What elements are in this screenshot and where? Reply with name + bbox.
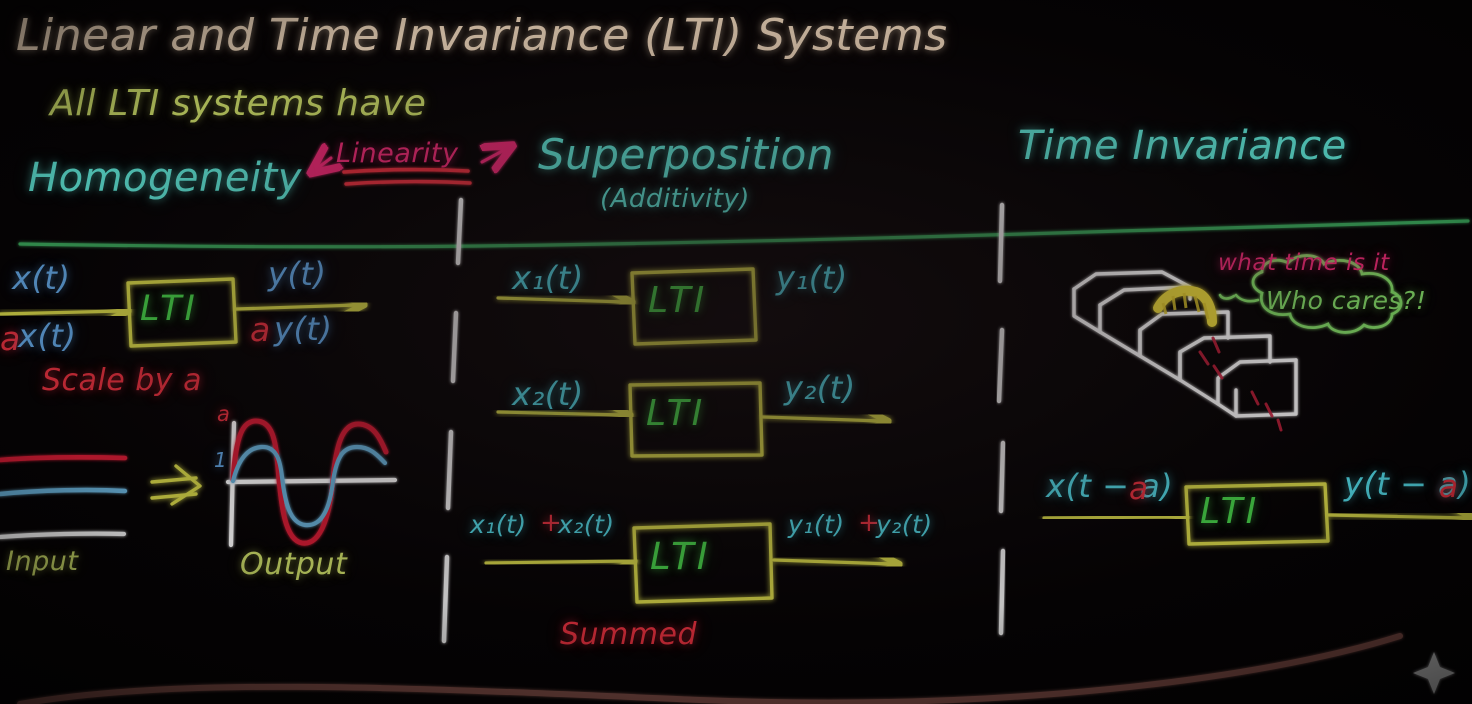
heading-additivity: (Additivity)	[600, 186, 750, 212]
column-divider-right	[999, 205, 1003, 633]
page-title: Linear and Time Invariance (LTI) Systems	[16, 14, 948, 58]
time-invariance-output-coef: a	[1439, 472, 1459, 503]
homogeneity-input-arrow	[0, 311, 122, 314]
heading-time-invariance: Time Invariance	[1018, 126, 1347, 166]
superposition-sum-output-right: y₂(t)	[876, 512, 933, 537]
homogeneity-output-arrow	[236, 305, 358, 309]
output-graph-axes	[228, 423, 395, 545]
doodle-question-label: what time is it	[1218, 252, 1390, 275]
output-amplitude-label: a	[217, 404, 230, 425]
input-graph-traces	[0, 457, 125, 537]
bottom-arc	[20, 636, 1400, 704]
output-graph-traces	[233, 421, 386, 543]
homogeneity-input-top-label: x(t)	[12, 262, 70, 294]
superposition-lti-label-sum: LTI	[650, 538, 711, 575]
scale-by-a-note: Scale by a	[42, 366, 202, 396]
heading-superposition: Superposition	[538, 134, 834, 176]
slinky-coil-lines	[1163, 293, 1208, 319]
superposition-input-label-2: x₂(t)	[512, 378, 584, 410]
doodle-answer-label: Who cares?!	[1266, 288, 1426, 313]
heading-homogeneity: Homogeneity	[28, 158, 302, 198]
slinky-icon	[1158, 291, 1212, 322]
superposition-output-label-1: y₁(t)	[776, 262, 848, 294]
homogeneity-output-bottom-label: y(t)	[274, 313, 332, 345]
superposition-output-arrow-2	[763, 417, 882, 421]
superposition-sum-input-left: x₁(t)	[470, 512, 527, 537]
implies-double-arrow-icon	[152, 466, 200, 504]
time-invariance-input-coef: a	[1129, 474, 1149, 505]
sparkle-icon	[1413, 652, 1455, 694]
time-invariance-lti-label: LTI	[1200, 494, 1259, 530]
homogeneity-output-coef-label: a	[250, 313, 271, 346]
superposition-input-arrow-sum	[486, 561, 628, 563]
motion-ticks	[1200, 338, 1281, 430]
blackboard-canvas: Linear and Time Invariance (LTI) Systems…	[0, 0, 1472, 704]
linearity-underline	[344, 170, 470, 184]
superposition-lti-label-1: LTI	[648, 283, 707, 319]
green-horizontal-rule	[20, 221, 1468, 247]
time-invariance-output-arrow	[1329, 515, 1468, 518]
time-invariance-input-label: x(t − a)	[1046, 470, 1173, 502]
input-graph-caption: Input	[6, 548, 78, 575]
heading-linearity: Linearity	[336, 140, 458, 167]
output-graph-caption: Output	[240, 550, 347, 580]
superposition-output-label-2: y₂(t)	[784, 372, 856, 404]
subtitle: All LTI systems have	[50, 86, 426, 122]
stairs-doodle	[1074, 272, 1296, 416]
summed-note: Summed	[560, 620, 697, 650]
homogeneity-output-top-label: y(t)	[268, 258, 326, 290]
input-amplitude-label: 1	[214, 450, 227, 470]
homogeneity-lti-label: LTI	[140, 292, 198, 327]
column-divider-left	[444, 200, 461, 641]
speech-bubble-tail	[1220, 295, 1258, 301]
superposition-lti-label-2: LTI	[646, 396, 705, 432]
superposition-sum-input-right: x₂(t)	[558, 512, 615, 537]
superposition-input-label-1: x₁(t)	[512, 262, 584, 294]
superposition-input-arrow-1	[498, 298, 626, 302]
superposition-output-arrow-sum	[774, 560, 893, 564]
homogeneity-input-bottom-label: x(t)	[18, 320, 76, 352]
time-invariance-input-arrow	[1044, 517, 1180, 518]
superposition-sum-output-left: y₁(t)	[788, 512, 845, 537]
